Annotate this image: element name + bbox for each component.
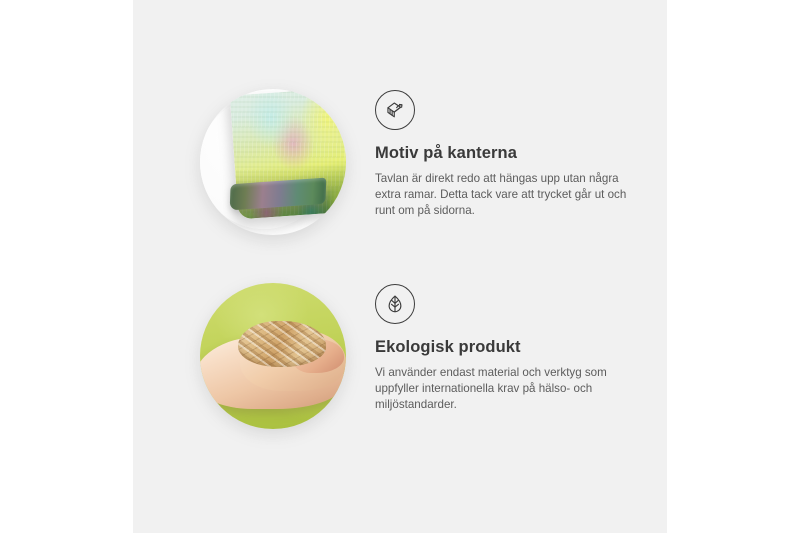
feature-body: Tavlan är direkt redo att hängas upp uta… <box>375 171 641 220</box>
feature-title: Ekologisk produkt <box>375 338 665 358</box>
feature-title: Motiv på kanterna <box>375 144 665 164</box>
canvas-wrapped-edge-icon <box>375 90 415 130</box>
feature-text-column: Ekologisk produkt Vi använder endast mat… <box>357 272 665 413</box>
feature-image-wrapper <box>189 78 357 246</box>
feature-image-wrapper <box>189 272 357 440</box>
page-canvas: Motiv på kanterna Tavlan är direkt redo … <box>0 0 800 533</box>
hands-wood-chips-photo <box>200 283 346 429</box>
feature-block-ekologisk-produkt: Ekologisk produkt Vi använder endast mat… <box>133 272 667 452</box>
feature-body: Vi använder endast material och verktyg … <box>375 365 641 414</box>
leaf-icon <box>375 284 415 324</box>
canvas-corner-photo <box>200 89 346 235</box>
feature-block-motiv-pa-kanterna: Motiv på kanterna Tavlan är direkt redo … <box>133 78 667 258</box>
feature-text-column: Motiv på kanterna Tavlan är direkt redo … <box>357 78 665 219</box>
wood-chips <box>238 321 326 367</box>
